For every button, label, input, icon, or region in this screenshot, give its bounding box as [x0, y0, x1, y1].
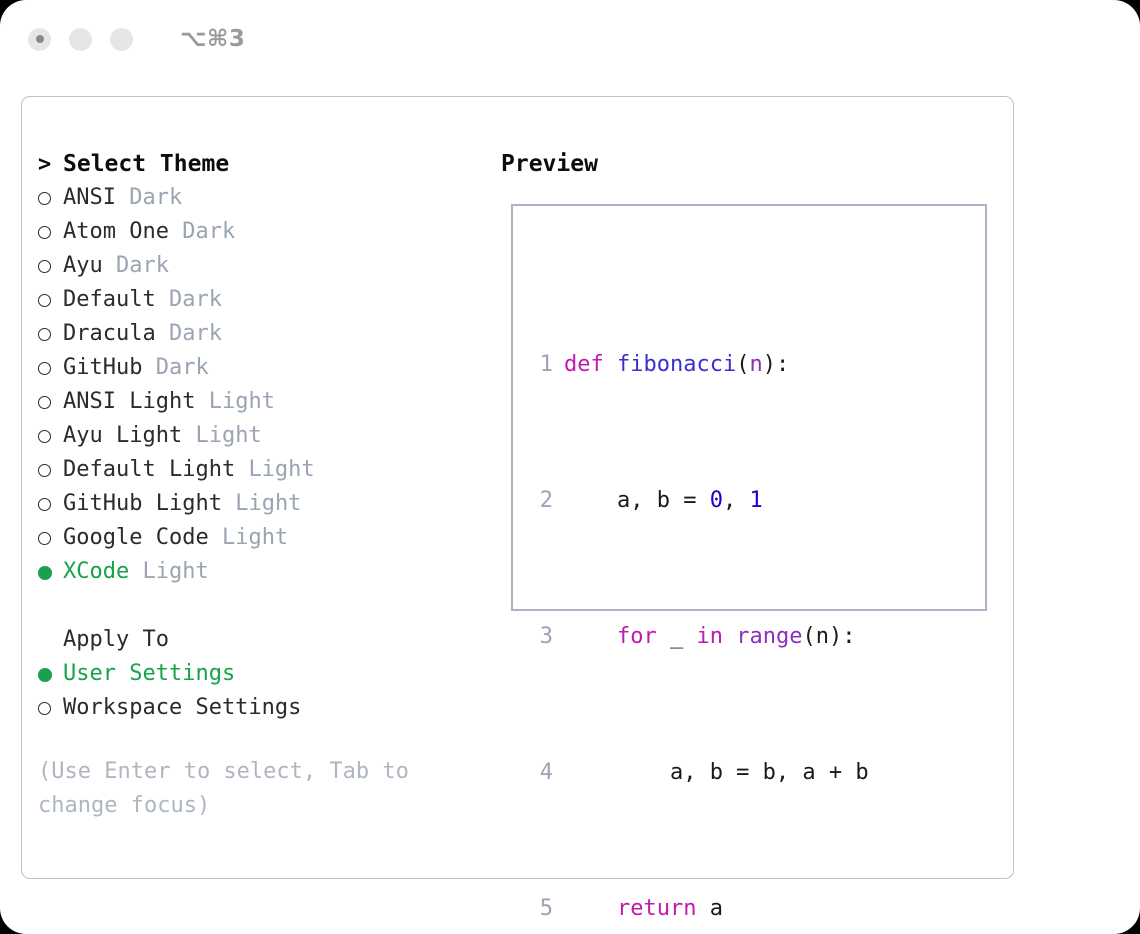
theme-kind: Light	[222, 521, 288, 555]
token-punct: (	[736, 352, 749, 377]
token-identifier: a, b =	[564, 488, 710, 513]
theme-list-item[interactable]: Default Dark	[38, 283, 498, 317]
token-keyword: def	[564, 352, 617, 377]
token-variable: range	[736, 624, 802, 649]
theme-list-item[interactable]: Ayu Light Light	[38, 419, 498, 453]
theme-kind: Dark	[156, 351, 209, 385]
theme-list-item[interactable]: GitHub Dark	[38, 351, 498, 385]
token-number: 1	[749, 488, 762, 513]
preview-box: 1def fibonacci(n): 2 a, b = 0, 1 3 for _…	[511, 204, 987, 611]
token-punct: ):	[763, 352, 790, 377]
theme-kind: Dark	[182, 215, 235, 249]
preview-title: Preview	[501, 147, 1001, 181]
token-function: fibonacci	[617, 352, 736, 377]
theme-list-item[interactable]: Dracula Dark	[38, 317, 498, 351]
theme-name: ANSI	[63, 181, 116, 215]
code-preview: 1def fibonacci(n): 2 a, b = 0, 1 3 for _…	[531, 246, 895, 934]
terminal-window: ⌥⌘3 >Select Theme ANSI Dark Atom One Dar…	[0, 0, 1140, 934]
window-close-button[interactable]	[28, 28, 51, 51]
token-identifier: a, b = b, a + b	[564, 760, 869, 785]
apply-to-option-label: Workspace Settings	[63, 691, 301, 725]
apply-to-label: Apply To	[38, 623, 498, 657]
select-theme-header-label: Select Theme	[63, 147, 229, 181]
keyboard-hint-text: (Use Enter to select, Tab to change focu…	[38, 755, 458, 823]
theme-kind: Dark	[116, 249, 169, 283]
code-line: 3 for _ in range(n):	[531, 620, 895, 654]
theme-name: GitHub Light	[63, 487, 222, 521]
window-titlebar: ⌥⌘3	[0, 0, 1140, 78]
token-identifier: a	[696, 896, 723, 921]
theme-selector-panel: >Select Theme ANSI Dark Atom One Dark Ay…	[21, 96, 1014, 879]
line-number: 5	[531, 892, 553, 926]
apply-to-option-label: User Settings	[63, 657, 235, 691]
line-number: 4	[531, 756, 553, 790]
theme-kind	[116, 181, 129, 215]
theme-kind: Dark	[169, 283, 222, 317]
token-keyword: in	[696, 624, 723, 649]
apply-to-option[interactable]: Workspace Settings	[38, 691, 498, 725]
code-line: 2 a, b = 0, 1	[531, 484, 895, 518]
token-identifier	[564, 896, 617, 921]
line-number: 1	[531, 348, 553, 382]
theme-kind: Light	[195, 419, 261, 453]
theme-list-item[interactable]: Atom One Dark	[38, 215, 498, 249]
theme-name: Default Light	[63, 453, 235, 487]
token-keyword: return	[617, 896, 696, 921]
code-line: 4 a, b = b, a + b	[531, 756, 895, 790]
theme-list-item[interactable]: Ayu Dark	[38, 249, 498, 283]
apply-to-option-selected[interactable]: User Settings	[38, 657, 498, 691]
line-number: 3	[531, 620, 553, 654]
theme-name: Atom One	[63, 215, 169, 249]
traffic-light-buttons	[28, 28, 133, 51]
token-identifier	[723, 624, 736, 649]
code-line: 1def fibonacci(n):	[531, 348, 895, 382]
theme-kind: Dark	[169, 317, 222, 351]
token-keyword: for	[617, 624, 657, 649]
theme-kind: Light	[248, 453, 314, 487]
theme-name: XCode	[63, 555, 129, 589]
theme-list-item[interactable]: ANSI Light Light	[38, 385, 498, 419]
theme-kind: Light	[235, 487, 301, 521]
theme-name: Dracula	[63, 317, 156, 351]
window-minimize-button[interactable]	[69, 28, 92, 51]
window-maximize-button[interactable]	[110, 28, 133, 51]
theme-list-item-selected[interactable]: XCode Light	[38, 555, 498, 589]
theme-list-item[interactable]: Default Light Light	[38, 453, 498, 487]
token-identifier: _	[657, 624, 697, 649]
theme-name: Default	[63, 283, 156, 317]
code-line: 5 return a	[531, 892, 895, 926]
theme-name: GitHub	[63, 351, 142, 385]
prompt-caret-icon: >	[38, 148, 63, 182]
line-number: 2	[531, 484, 553, 518]
theme-kind: Light	[209, 385, 275, 419]
theme-name: Ayu	[63, 249, 103, 283]
token-punct: (n):	[802, 624, 855, 649]
theme-list-item[interactable]: Google Code Light	[38, 521, 498, 555]
theme-name: Ayu Light	[63, 419, 182, 453]
active-dot-icon	[36, 35, 44, 43]
select-theme-header: >Select Theme	[38, 147, 498, 181]
token-identifier: ,	[723, 488, 750, 513]
theme-name: Google Code	[63, 521, 209, 555]
token-variable: n	[749, 352, 762, 377]
preview-column: Preview 1def fibonacci(n): 2 a, b = 0, 1…	[501, 147, 1001, 181]
theme-kind: Light	[142, 555, 208, 589]
token-identifier	[564, 624, 617, 649]
theme-list-item[interactable]: GitHub Light Light	[38, 487, 498, 521]
theme-list-column: >Select Theme ANSI Dark Atom One Dark Ay…	[38, 147, 498, 823]
theme-name: ANSI Light	[63, 385, 195, 419]
keyboard-shortcut-label: ⌥⌘3	[180, 26, 245, 52]
theme-list-item[interactable]: ANSI Dark	[38, 181, 498, 215]
token-number: 0	[710, 488, 723, 513]
